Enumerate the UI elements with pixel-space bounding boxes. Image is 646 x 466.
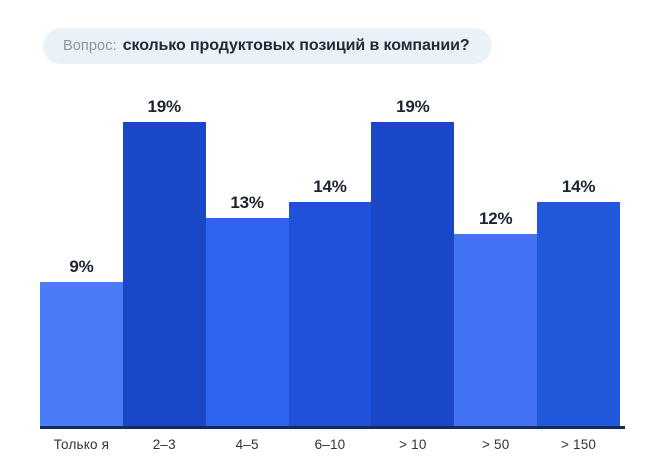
x-axis-label: > 50	[454, 434, 537, 456]
bar-value-label: 19%	[371, 98, 454, 115]
x-axis-label: 6–10	[289, 434, 372, 456]
x-axis-label: > 10	[371, 434, 454, 456]
x-axis-label: 2–3	[123, 434, 206, 456]
chart-plot-area: 9%19%13%14%19%12%14%	[40, 90, 620, 426]
x-axis-label: > 150	[537, 434, 620, 456]
question-prefix-label: Вопрос:	[63, 38, 117, 54]
x-axis-tick-labels: Только я2–34–56–10> 10> 50> 150	[40, 434, 620, 460]
chart-bar	[40, 282, 123, 426]
bar-value-label: 9%	[40, 258, 123, 275]
chart-bar	[371, 122, 454, 426]
bar-group: 12%	[454, 90, 537, 426]
bar-value-label: 14%	[537, 178, 620, 195]
bar-group: 13%	[206, 90, 289, 426]
x-axis-label: 4–5	[206, 434, 289, 456]
bar-group: 14%	[289, 90, 372, 426]
page-title: сколько продуктовых позиций в компании?	[123, 37, 470, 55]
chart-bar	[289, 202, 372, 426]
chart-bar	[123, 122, 206, 426]
bar-group: 19%	[371, 90, 454, 426]
bar-group: 19%	[123, 90, 206, 426]
chart-bar	[206, 218, 289, 426]
bar-chart: Вопрос: сколько продуктовых позиций в ко…	[0, 0, 646, 466]
chart-bar	[537, 202, 620, 426]
bar-group: 14%	[537, 90, 620, 426]
bar-value-label: 19%	[123, 98, 206, 115]
chart-bar	[454, 234, 537, 426]
bar-value-label: 12%	[454, 210, 537, 227]
x-axis-label: Только я	[40, 434, 123, 456]
x-axis-line	[40, 426, 625, 429]
question-pill: Вопрос: сколько продуктовых позиций в ко…	[43, 28, 492, 64]
bar-value-label: 14%	[289, 178, 372, 195]
bar-group: 9%	[40, 90, 123, 426]
bar-value-label: 13%	[206, 194, 289, 211]
